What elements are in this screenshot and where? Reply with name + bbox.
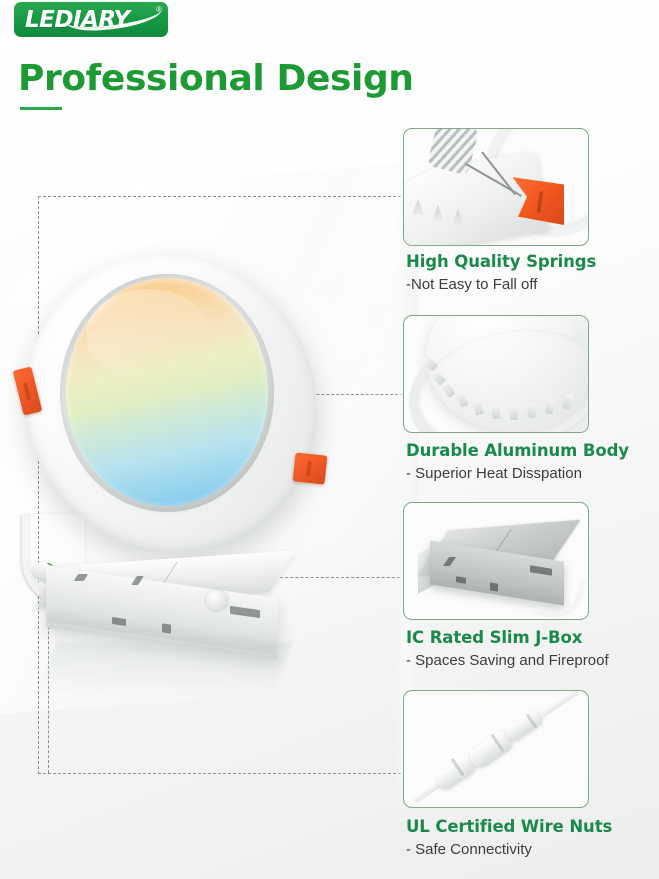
feature-thumbnail-jbox[interactable]: [403, 502, 589, 620]
brand-logo: LEDIARY ®: [14, 2, 168, 37]
feature-subtitle-wirenuts: - Safe Connectivity: [406, 841, 532, 858]
knockout-slot: [490, 582, 498, 591]
surface-reflection: [36, 642, 292, 696]
page-title: Professional Design: [18, 58, 414, 99]
downlight-lens: [66, 278, 268, 506]
heatsink-fin: [510, 405, 518, 420]
heatsink-fin: [491, 404, 501, 420]
product-illustration: [16, 246, 356, 666]
connector-segment: [503, 707, 546, 743]
junction-box-vent: [162, 623, 171, 633]
clip-notch: [306, 461, 312, 476]
feature-thumbnail-aluminum[interactable]: [403, 315, 589, 433]
feature-subtitle-jbox: - Spaces Saving and Fireproof: [406, 652, 609, 669]
feature-title-springs: High Quality Springs: [406, 252, 596, 271]
feature-subtitle-springs: -Not Easy to Fall off: [406, 276, 537, 293]
registered-trademark-icon: ®: [156, 5, 162, 14]
feature-title-aluminum: Durable Aluminum Body: [406, 441, 629, 460]
spring-clip-closeup-image: [404, 129, 588, 245]
feature-thumbnail-wirenuts[interactable]: [403, 690, 589, 808]
spring-clip-right: [293, 452, 328, 484]
feature-title-wirenuts: UL Certified Wire Nuts: [406, 817, 612, 836]
junction-box-knockout-knob: [206, 590, 228, 610]
junction-box-closeup-image: [404, 503, 588, 619]
clip-notch: [23, 382, 31, 400]
lens-gloss-highlight: [86, 289, 211, 380]
title-underline: [20, 107, 62, 110]
aluminum-heatsink-closeup-image: [404, 316, 588, 432]
logo-wordmark: LEDIARY: [25, 7, 130, 33]
feature-thumbnail-springs[interactable]: [403, 128, 589, 246]
feature-title-jbox: IC Rated Slim J-Box: [406, 628, 582, 647]
wire-connector-closeup-image: [404, 691, 588, 807]
feature-subtitle-aluminum: - Superior Heat Disspation: [406, 465, 582, 482]
heatsink-fin: [527, 403, 537, 419]
junction-box-wire: [530, 570, 586, 620]
cable-end: [540, 690, 580, 718]
